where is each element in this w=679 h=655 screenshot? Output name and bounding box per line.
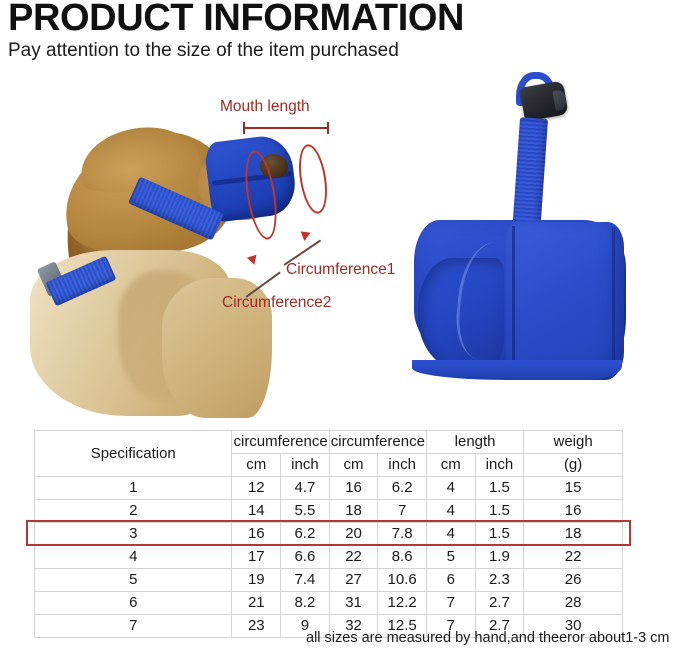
header-weigh: weigh: [524, 431, 623, 454]
cell-length-inch: 2.3: [475, 569, 524, 592]
cell-circ2-cm: 27: [329, 569, 378, 592]
header-circumference-2: circumference: [329, 431, 426, 454]
cell-length-cm: 7: [426, 592, 475, 615]
cell-specification: 7: [35, 615, 232, 638]
table-row: 4176.6228.651.922: [35, 546, 623, 569]
dog-wearing-muzzle-photo: [22, 128, 278, 413]
adjustable-strap-webbing: [512, 117, 548, 235]
size-table: Specification circumference circumferenc…: [34, 430, 623, 638]
subheader-length-inch: inch: [475, 454, 524, 477]
size-chart: Specification circumference circumferenc…: [34, 430, 623, 638]
cell-circ2-inch: 12.2: [378, 592, 427, 615]
cell-weigh: 28: [524, 592, 623, 615]
cell-length-cm: 4: [426, 477, 475, 500]
mouth-length-label: Mouth length: [220, 98, 310, 116]
table-head: Specification circumference circumferenc…: [35, 431, 623, 477]
cell-specification: 6: [35, 592, 232, 615]
table-row: 1124.7166.241.515: [35, 477, 623, 500]
cell-specification: 2: [35, 500, 232, 523]
cell-circ1-cm: 14: [232, 500, 281, 523]
page-subtitle: Pay attention to the size of the item pu…: [8, 39, 668, 63]
cell-specification: 4: [35, 546, 232, 569]
cell-specification: 3: [35, 523, 232, 546]
table-row: 5197.42710.662.326: [35, 569, 623, 592]
header-specification: Specification: [35, 431, 232, 477]
cell-weigh: 15: [524, 477, 623, 500]
cell-circ1-inch: 5.5: [281, 500, 330, 523]
page-title: PRODUCT INFORMATION: [8, 0, 668, 36]
table-header-group-row: Specification circumference circumferenc…: [35, 431, 623, 454]
circumference1-loop: [295, 142, 332, 215]
cell-length-inch: 1.9: [475, 546, 524, 569]
cell-length-cm: 4: [426, 523, 475, 546]
page-header: PRODUCT INFORMATION Pay attention to the…: [8, 0, 668, 63]
subheader-circ2-inch: inch: [378, 454, 427, 477]
cell-circ1-inch: 6.2: [281, 523, 330, 546]
cell-circ1-inch: 8.2: [281, 592, 330, 615]
cell-circ1-cm: 21: [232, 592, 281, 615]
dimension-tick-left: [243, 122, 245, 134]
dimension-line: [243, 127, 329, 129]
cell-circ1-cm: 19: [232, 569, 281, 592]
cell-specification: 5: [35, 569, 232, 592]
cell-circ2-cm: 22: [329, 546, 378, 569]
circumference1-label: Circumference1: [286, 261, 395, 279]
cell-circ1-cm: 16: [232, 523, 281, 546]
cell-circ2-cm: 18: [329, 500, 378, 523]
product-imagery: Mouth length Circumference1 Circumferenc…: [0, 66, 679, 416]
cell-circ1-inch: 7.4: [281, 569, 330, 592]
cell-circ2-cm: 20: [329, 523, 378, 546]
subheader-weigh-unit: (g): [524, 454, 623, 477]
cell-circ1-cm: 23: [232, 615, 281, 638]
cell-circ2-cm: 31: [329, 592, 378, 615]
cell-weigh: 22: [524, 546, 623, 569]
cell-weigh: 18: [524, 523, 623, 546]
cell-circ2-inch: 7: [378, 500, 427, 523]
header-length: length: [426, 431, 523, 454]
subheader-circ1-cm: cm: [232, 454, 281, 477]
cell-length-cm: 4: [426, 500, 475, 523]
cell-length-cm: 5: [426, 546, 475, 569]
header-circumference-1: circumference: [232, 431, 329, 454]
cell-circ2-inch: 6.2: [378, 477, 427, 500]
table-body: 1124.7166.241.5152145.518741.5163166.220…: [35, 477, 623, 638]
muzzle-product-photo: [404, 66, 666, 416]
circumference2-label: Circumference2: [222, 294, 331, 312]
cell-circ1-cm: 12: [232, 477, 281, 500]
cell-circ2-inch: 8.6: [378, 546, 427, 569]
cell-circ2-inch: 7.8: [378, 523, 427, 546]
muzzle-bottom-rim: [412, 360, 622, 380]
cell-circ2-inch: 10.6: [378, 569, 427, 592]
dimension-tick-right: [327, 122, 329, 134]
muzzle-side-seam: [612, 228, 615, 374]
cell-length-cm: 6: [426, 569, 475, 592]
cell-circ1-inch: 4.7: [281, 477, 330, 500]
subheader-length-cm: cm: [426, 454, 475, 477]
cell-length-inch: 1.5: [475, 500, 524, 523]
subheader-circ1-inch: inch: [281, 454, 330, 477]
table-footnote: all sizes are measured by hand,and theer…: [306, 630, 670, 646]
cell-circ1-cm: 17: [232, 546, 281, 569]
table-row: 2145.518741.516: [35, 500, 623, 523]
cell-weigh: 16: [524, 500, 623, 523]
circumference1-arrowhead: [299, 231, 310, 241]
cell-circ2-cm: 16: [329, 477, 378, 500]
cell-weigh: 26: [524, 569, 623, 592]
mouth-length-dimension-bar: [243, 122, 329, 134]
cell-length-inch: 2.7: [475, 592, 524, 615]
cell-specification: 1: [35, 477, 232, 500]
muzzle-front-seam: [512, 226, 515, 376]
table-row: 3166.2207.841.518: [35, 523, 623, 546]
cell-length-inch: 1.5: [475, 523, 524, 546]
subheader-circ2-cm: cm: [329, 454, 378, 477]
cell-circ1-inch: 6.6: [281, 546, 330, 569]
cell-length-inch: 1.5: [475, 477, 524, 500]
table-row: 6218.23112.272.728: [35, 592, 623, 615]
